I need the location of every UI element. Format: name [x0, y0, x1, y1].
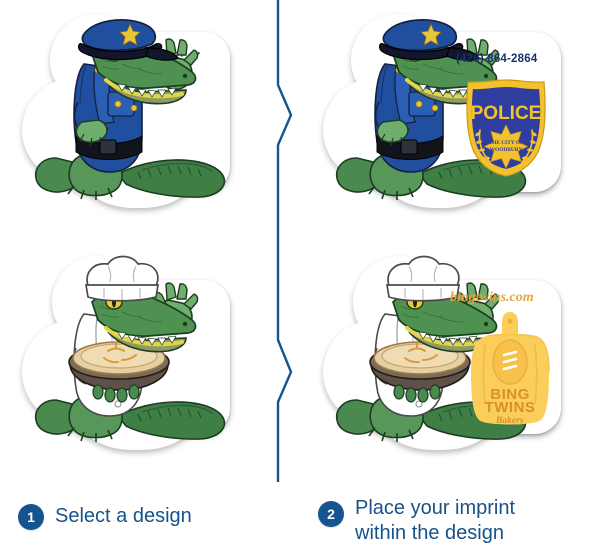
- design-option-chef-blank[interactable]: [22, 252, 242, 464]
- step-2-number: 2: [318, 501, 344, 527]
- step-1: 1 Select a design: [18, 504, 192, 530]
- step-2: 2 Place your imprint within the design: [318, 496, 515, 546]
- column-divider: [272, 0, 298, 482]
- divider-chevron-path: [278, 0, 291, 482]
- step-2-label: Place your imprint within the design: [355, 496, 515, 546]
- bakery-tag-line2: TWINS: [485, 399, 536, 416]
- imprint-preview-chef[interactable]: bingtwins.com: [323, 252, 573, 464]
- imprint-preview-police[interactable]: (426) 864-2864 POLICE THE CITY OF WOODBU…: [323, 6, 573, 224]
- badge-subtitle-line1: THE CITY OF: [489, 140, 525, 146]
- police-badge-imprint[interactable]: POLICE THE CITY OF WOODBURY: [462, 78, 550, 178]
- chef-alligator-artwork: [22, 252, 242, 464]
- imprint-website-url[interactable]: bingtwins.com: [450, 290, 534, 306]
- badge-subtitle-line2: WOODBURY: [490, 147, 523, 153]
- bakery-tag-line3: Bakery: [495, 416, 525, 426]
- design-option-police-blank[interactable]: [22, 6, 242, 224]
- badge-title-text: POLICE: [471, 103, 542, 124]
- bakery-tag-imprint[interactable]: BING TWINS Bakery: [465, 310, 555, 432]
- step-1-label: Select a design: [55, 504, 192, 529]
- police-alligator-artwork: [22, 6, 242, 224]
- imprint-phone-number[interactable]: (426) 864-2864: [456, 53, 537, 65]
- sticker-preview-stage: (426) 864-2864 POLICE THE CITY OF WOODBU…: [0, 0, 600, 559]
- step-1-number: 1: [18, 504, 44, 530]
